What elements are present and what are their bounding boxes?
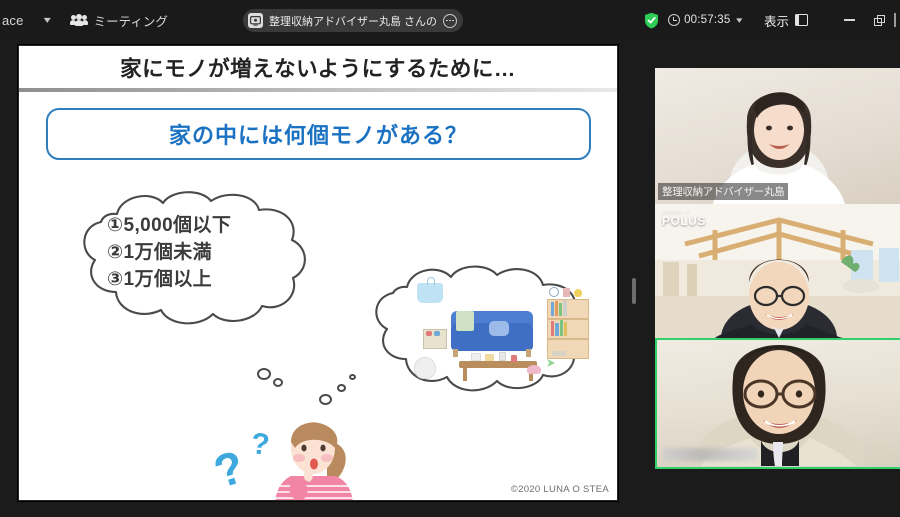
furniture-thought-cloud bbox=[359, 261, 609, 396]
screen-share-icon bbox=[248, 13, 263, 28]
question-mark-small: ? bbox=[249, 427, 271, 463]
polus-watermark: ポラスグループ POLUS bbox=[662, 209, 706, 228]
panel-resize-handle[interactable] bbox=[632, 278, 636, 304]
window-edge bbox=[894, 0, 900, 40]
participant-name-1: 整理収納アドバイザー丸島 bbox=[658, 183, 788, 200]
bookshelf-illustration bbox=[547, 299, 589, 359]
video-tile-2[interactable]: ポラスグループ POLUS bbox=[655, 204, 900, 338]
sofa-leg bbox=[453, 349, 458, 357]
top-toolbar: ace ▾ ミーティング 整理収納アドバイザー丸島 さんの bbox=[0, 0, 900, 40]
question-box-text: 家の中には何個モノがある？ bbox=[169, 118, 468, 150]
people-icon bbox=[71, 14, 87, 27]
cup-illustration bbox=[511, 355, 517, 362]
slide-title: 家にモノが増えないようにするために… bbox=[19, 52, 617, 83]
thought-bubble-dot bbox=[257, 368, 271, 380]
clothes-illustration bbox=[417, 283, 443, 303]
snack-illustration bbox=[485, 354, 494, 361]
polus-watermark-text: POLUS bbox=[662, 214, 706, 228]
chevron-down-icon[interactable]: ▾ bbox=[737, 15, 743, 26]
bag-illustration bbox=[414, 357, 436, 379]
thinking-woman-illustration bbox=[269, 414, 364, 501]
timer-value: 00:57:35 bbox=[684, 14, 730, 26]
table-illustration bbox=[459, 361, 537, 368]
layout-icon bbox=[795, 14, 808, 26]
toy-duck-illustration bbox=[574, 289, 582, 297]
thought-bubble-dot bbox=[273, 378, 283, 387]
toolbar-left-group: ace ▾ ミーティング bbox=[0, 11, 168, 30]
thought-bubble-dot bbox=[349, 374, 356, 380]
shared-screen-stage[interactable]: 家にモノが増えないようにするために… 家の中には何個モノがある？ ①5,000個… bbox=[0, 40, 625, 517]
box-illustration bbox=[563, 288, 570, 297]
meeting-button[interactable]: ミーティング bbox=[71, 11, 168, 30]
presentation-slide[interactable]: 家にモノが増えないようにするために… 家の中には何個モノがある？ ①5,000個… bbox=[18, 45, 618, 501]
more-options-icon[interactable] bbox=[443, 14, 457, 28]
video-tile-1[interactable]: 整理収納アドバイザー丸島 bbox=[655, 68, 900, 204]
participant-name-3-blurred bbox=[662, 448, 758, 461]
minimize-button[interactable] bbox=[834, 0, 864, 40]
option-item-2: ②1万個未満 bbox=[107, 240, 231, 267]
options-list: ①5,000個以下 ②1万個未満 ③1万個以上 bbox=[107, 213, 231, 294]
option-item-1: ①5,000個以下 bbox=[107, 213, 231, 240]
thought-bubble-dot bbox=[337, 384, 346, 392]
paper-illustration bbox=[471, 353, 481, 361]
options-thought-cloud: ①5,000個以下 ②1万個未満 ③1万個以上 bbox=[59, 188, 349, 338]
toolbar-right-group: 00:57:35 ▾ 表示 bbox=[644, 0, 900, 40]
screen-share-label: 整理収納アドバイザー丸島 さんの bbox=[269, 13, 437, 29]
minimize-icon bbox=[844, 19, 855, 21]
chevron-down-icon[interactable]: ▾ bbox=[18, 15, 56, 26]
blanket-illustration bbox=[456, 311, 474, 331]
restore-window-icon bbox=[874, 15, 885, 26]
title-divider bbox=[19, 88, 617, 92]
question-box: 家の中には何個モノがある？ bbox=[46, 108, 591, 160]
clock-icon bbox=[668, 14, 680, 26]
video-tile-3-active-speaker[interactable] bbox=[655, 338, 900, 469]
clock-illustration bbox=[549, 287, 559, 297]
toy-illustration bbox=[426, 331, 432, 336]
cat-illustration bbox=[527, 365, 541, 374]
shield-check-icon[interactable] bbox=[644, 12, 659, 29]
view-label: 表示 bbox=[764, 11, 789, 30]
view-button[interactable]: 表示 bbox=[764, 11, 808, 30]
restore-button[interactable] bbox=[864, 0, 894, 40]
question-mark-large: ? bbox=[207, 439, 250, 499]
copyright-text: ©2020 LUNA O STEA bbox=[511, 484, 609, 495]
video-tiles-panel: 整理収納アドバイザー丸島 bbox=[655, 68, 900, 468]
meeting-timer[interactable]: 00:57:35 ▾ bbox=[668, 14, 742, 26]
screen-share-pill[interactable]: 整理収納アドバイザー丸島 さんの bbox=[243, 9, 463, 32]
paper-illustration bbox=[499, 352, 506, 361]
option-item-3: ③1万個以上 bbox=[107, 267, 231, 294]
thought-bubble-dot bbox=[319, 394, 332, 405]
cushion-illustration bbox=[489, 321, 509, 336]
table-leg bbox=[463, 367, 467, 381]
meeting-label: ミーティング bbox=[94, 11, 168, 30]
hanger-icon bbox=[427, 277, 435, 285]
toy-illustration bbox=[434, 331, 440, 336]
sofa-leg bbox=[526, 349, 531, 357]
